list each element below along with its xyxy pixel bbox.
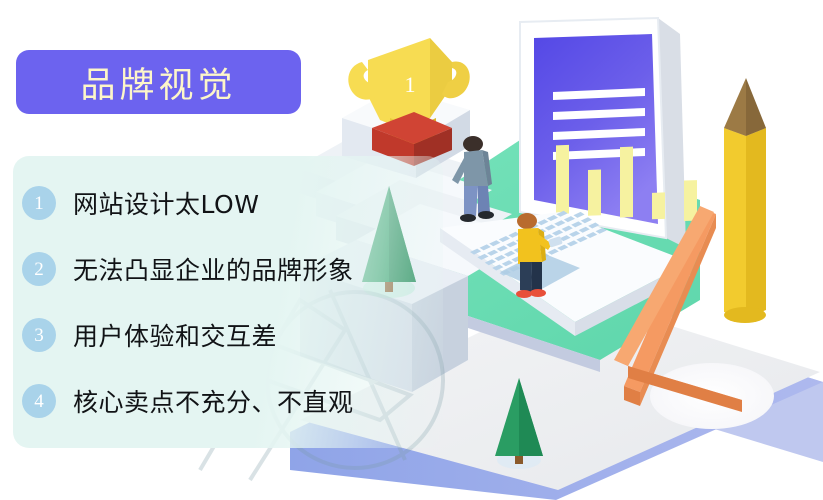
trophy-rank-label: 1 <box>405 72 416 97</box>
list-item-label: 核心卖点不充分、不直观 <box>73 383 354 419</box>
list-item-label: 网站设计太LOW <box>73 185 259 221</box>
list-item-number-badge: 4 <box>22 384 56 418</box>
poster-canvas: 1 <box>0 0 823 500</box>
chart-bar <box>588 170 601 216</box>
list-item-label: 用户体验和交互差 <box>73 317 277 353</box>
list-item: 4核心卖点不充分、不直观 <box>13 378 453 424</box>
list-item: 1网站设计太LOW <box>13 180 453 226</box>
issue-list: 1网站设计太LOW2无法凸显企业的品牌形象3用户体验和交互差4核心卖点不充分、不… <box>13 156 453 448</box>
list-item-number-badge: 2 <box>22 252 56 286</box>
title-text: 品牌视觉 <box>80 57 236 108</box>
chart-bar <box>652 192 665 219</box>
chart-bar <box>556 145 569 214</box>
list-item: 2无法凸显企业的品牌形象 <box>13 246 453 292</box>
list-item-number-badge: 1 <box>22 186 56 220</box>
pencil <box>724 78 766 323</box>
list-item-number-badge: 3 <box>22 318 56 352</box>
list-item: 3用户体验和交互差 <box>13 312 453 358</box>
list-item-label: 无法凸显企业的品牌形象 <box>73 251 354 287</box>
title-badge: 品牌视觉 <box>16 50 301 114</box>
chart-bar <box>620 147 633 218</box>
